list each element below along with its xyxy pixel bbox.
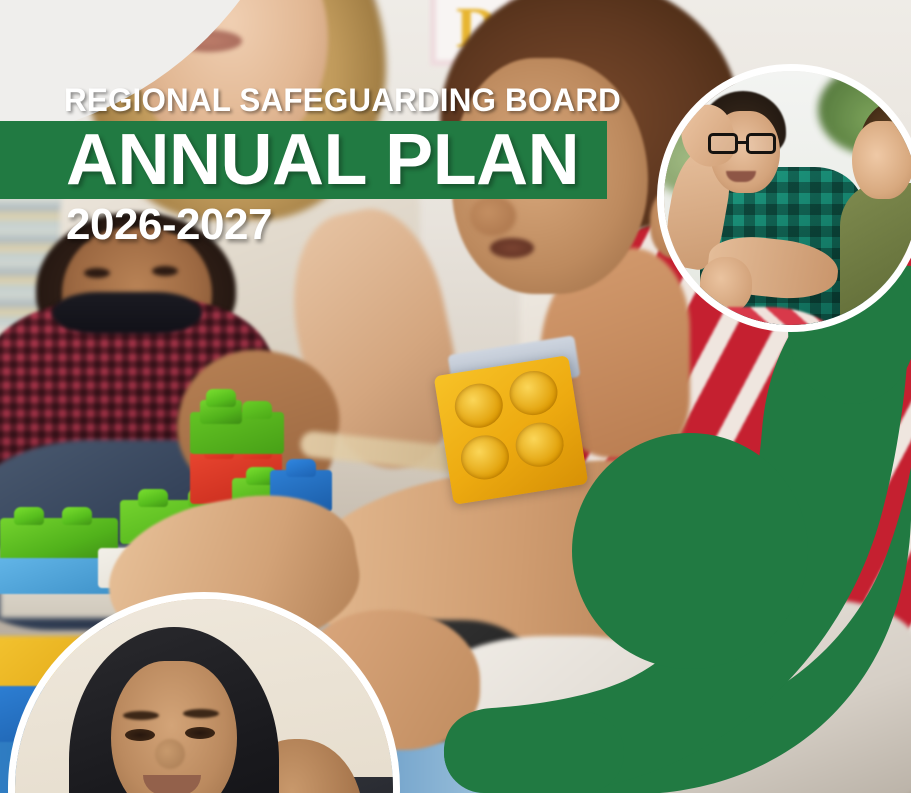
page-title: ANNUAL PLAN <box>66 118 579 202</box>
glasses-icon <box>708 133 784 155</box>
woman-eyebrow <box>123 711 159 720</box>
woman-face <box>111 661 237 793</box>
inset-bottom-left-scene <box>15 599 393 793</box>
inset-photo-top-right <box>657 64 911 332</box>
boy-face <box>852 121 911 199</box>
woman-mouth <box>143 775 201 793</box>
child-main-nose <box>470 196 516 236</box>
woman-eye <box>125 729 155 741</box>
woman-eyebrow <box>183 709 219 718</box>
child-left-eye <box>84 268 110 278</box>
cover-kicker: REGIONAL SAFEGUARDING BOARD <box>64 82 621 119</box>
child-left-eye <box>152 266 178 276</box>
inset-photo-bottom-left <box>8 592 400 793</box>
child-left-collar <box>52 292 202 334</box>
child-main-mouth <box>490 238 534 258</box>
woman-eye <box>185 727 215 739</box>
cover-page: D <box>0 0 911 793</box>
inset-top-right-scene <box>664 71 911 325</box>
toy-block-held <box>434 355 589 505</box>
man-hand <box>700 257 752 313</box>
cover-years: 2026-2027 <box>66 200 272 250</box>
woman-nose <box>155 739 185 769</box>
toy-block <box>200 400 242 424</box>
boy-tshirt <box>840 183 911 332</box>
